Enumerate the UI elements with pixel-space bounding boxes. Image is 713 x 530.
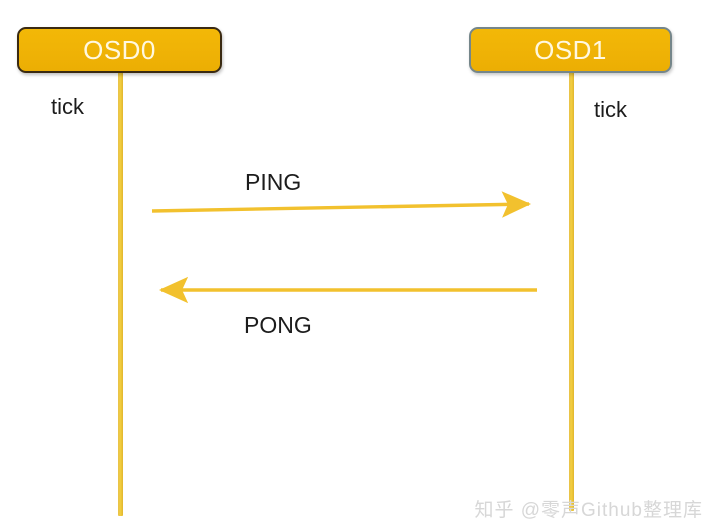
participant-label-osd0: OSD0 [83, 37, 156, 63]
tick-label-osd1: tick [594, 99, 627, 121]
message-arrows-layer [0, 0, 713, 530]
lifeline-osd1 [569, 68, 574, 511]
participant-label-osd1: OSD1 [534, 37, 607, 63]
participant-box-osd1[interactable]: OSD1 [469, 27, 672, 73]
participant-box-osd0[interactable]: OSD0 [17, 27, 222, 73]
message-label-ping: PING [245, 171, 301, 194]
message-label-pong: PONG [244, 314, 312, 337]
lifeline-osd0 [118, 68, 123, 516]
tick-label-osd0: tick [51, 96, 84, 118]
message-arrow-ping [152, 204, 529, 211]
sequence-diagram-canvas: OSD0 OSD1 tick tick PING PONG 知乎 @零声Gith… [0, 0, 713, 530]
watermark-text: 知乎 @零声Github整理库 [474, 495, 703, 522]
